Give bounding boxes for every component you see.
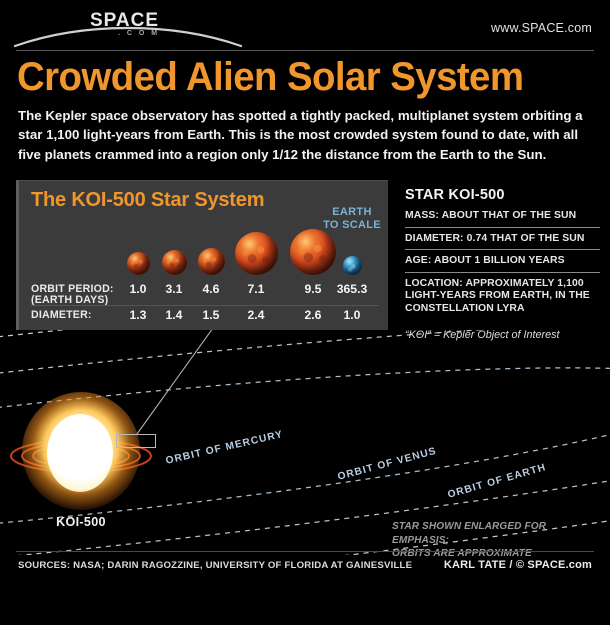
planet-1: [127, 252, 150, 275]
table-row-divider: [31, 305, 379, 306]
cell-diameter-earth: 1.0: [329, 308, 375, 322]
star-name-label: KOI-500: [22, 515, 140, 529]
page-title: Crowded Alien Solar System: [17, 54, 574, 100]
cell-diameter-3: 1.5: [188, 308, 234, 322]
row-label-diameter: DIAMETER:: [31, 309, 92, 321]
logo-wordmark: SPACE: [90, 10, 159, 32]
row-label-diameter-text: DIAMETER:: [31, 309, 92, 321]
credit-text[interactable]: KARL TATE / © SPACE.com: [444, 559, 592, 571]
planet-3: [198, 248, 225, 275]
planet-2: [162, 250, 187, 275]
note-line-1: STAR SHOWN ENLARGED FOR EMPHASIS;: [392, 521, 546, 546]
earth-sphere: [343, 256, 362, 275]
star-fact-mass: MASS: ABOUT THAT OF THE SUN: [405, 210, 600, 228]
star-fact-age: AGE: ABOUT 1 BILLION YEARS: [405, 255, 600, 273]
star-info-title: STAR KOI-500: [405, 187, 600, 203]
star-system-panel: The KOI-500 Star System EARTH TO SCALE O…: [16, 180, 388, 330]
star-fact-location: LOCATION: APPROXIMATELY 1,100 LIGHT-YEAR…: [405, 278, 600, 320]
star-core: [47, 414, 113, 492]
header-divider: [16, 50, 594, 51]
note-line-2: ORBITS ARE APPROXIMATE: [392, 548, 532, 559]
planet-5: [290, 229, 336, 275]
header: SPACE . C O M www.SPACE.com: [0, 0, 610, 52]
cell-diameter-4: 2.4: [233, 308, 279, 322]
footer-divider: [16, 551, 594, 552]
planet-row: [19, 181, 391, 285]
space-com-logo[interactable]: SPACE . C O M: [58, 8, 198, 44]
cell-orbit-period-3: 4.6: [188, 282, 234, 296]
orbit-diagram: KOI-500 ORBIT OF MERCURY ORBIT OF VENUS …: [0, 330, 610, 555]
infographic-root: SPACE . C O M www.SPACE.com Crowded Alie…: [0, 0, 610, 625]
planet-4: [235, 232, 278, 275]
callout-leader-line: [137, 330, 213, 434]
site-url[interactable]: www.SPACE.com: [491, 21, 592, 35]
deck-paragraph: The Kepler space observatory has spotted…: [18, 106, 596, 164]
star-info-panel: STAR KOI-500 MASS: ABOUT THAT OF THE SUN…: [405, 187, 600, 341]
cell-orbit-period-earth: 365.3: [329, 282, 375, 296]
cell-orbit-period-4: 7.1: [233, 282, 279, 296]
star-fact-diameter: DIAMETER: 0.74 THAT OF THE SUN: [405, 233, 600, 251]
logo-dotcom-text: . C O M: [118, 30, 160, 37]
sources-text: SOURCES: NASA; DARIN RAGOZZINE, UNIVERSI…: [18, 560, 412, 571]
diagram-disclaimer-note: STAR SHOWN ENLARGED FOR EMPHASIS; ORBITS…: [392, 520, 592, 561]
callout-box: [116, 434, 156, 448]
